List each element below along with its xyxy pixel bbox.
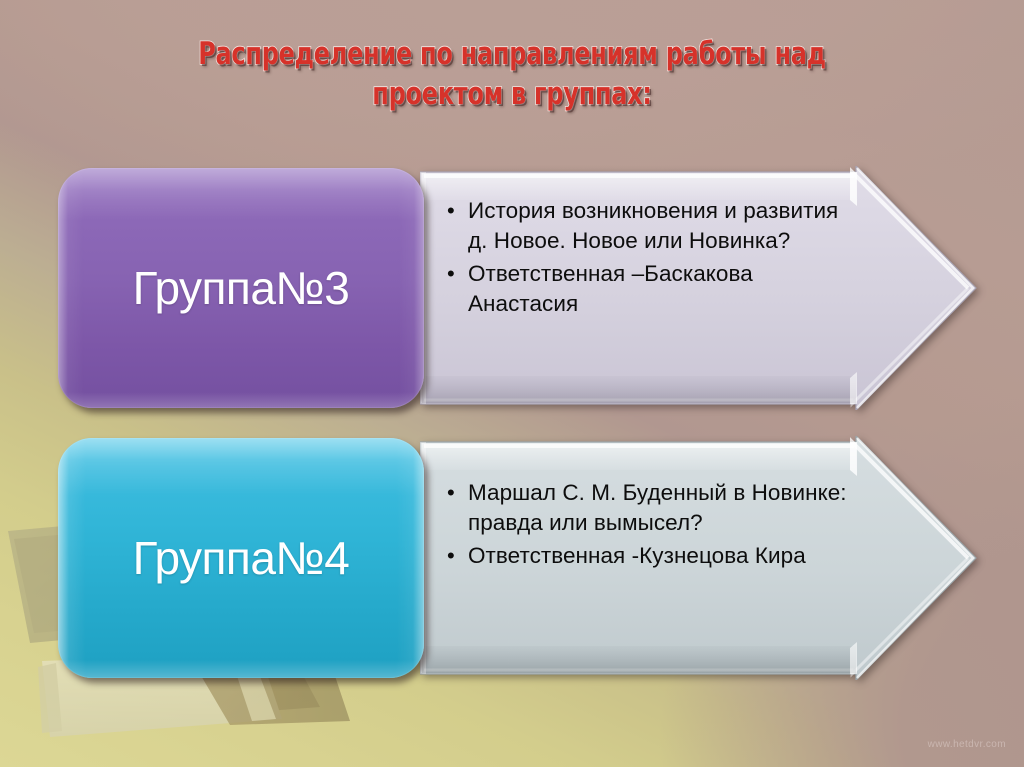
watermark-text: www.hetdvr.com	[928, 739, 1006, 750]
bullet-text: История возникновения и развития д. Ново…	[468, 198, 838, 253]
bullet-glyph-icon: •	[447, 478, 455, 508]
group-box-4-label: Группа№4	[133, 531, 350, 585]
bullet-glyph-icon: •	[447, 259, 455, 289]
presentation-slide: Распределение по направлениям работы над…	[0, 0, 1024, 767]
group-box-4[interactable]: Группа№4	[58, 438, 424, 678]
slide-title: Распределение по направлениям работы над…	[132, 34, 892, 115]
bullet-item: •История возникновения и развития д. Нов…	[444, 196, 844, 257]
bullet-text: Ответственная –Баскакова Анастасия	[468, 261, 753, 316]
arrow-bullet-list-group4: •Маршал С. М. Буденный в Новинке: правда…	[444, 478, 874, 573]
bullet-glyph-icon: •	[447, 541, 455, 571]
arrow-bullet-list-group3: •История возникновения и развития д. Нов…	[444, 196, 844, 322]
bullet-item: •Маршал С. М. Буденный в Новинке: правда…	[444, 478, 874, 539]
bullet-glyph-icon: •	[447, 196, 455, 226]
bullet-item: •Ответственная -Кузнецова Кира	[444, 541, 874, 571]
bullet-item: •Ответственная –Баскакова Анастасия	[444, 259, 844, 320]
group-box-3-label: Группа№3	[133, 261, 350, 315]
group-box-3[interactable]: Группа№3	[58, 168, 424, 408]
bullet-text: Маршал С. М. Буденный в Новинке: правда …	[468, 480, 847, 535]
bullet-text: Ответственная -Кузнецова Кира	[468, 543, 806, 568]
